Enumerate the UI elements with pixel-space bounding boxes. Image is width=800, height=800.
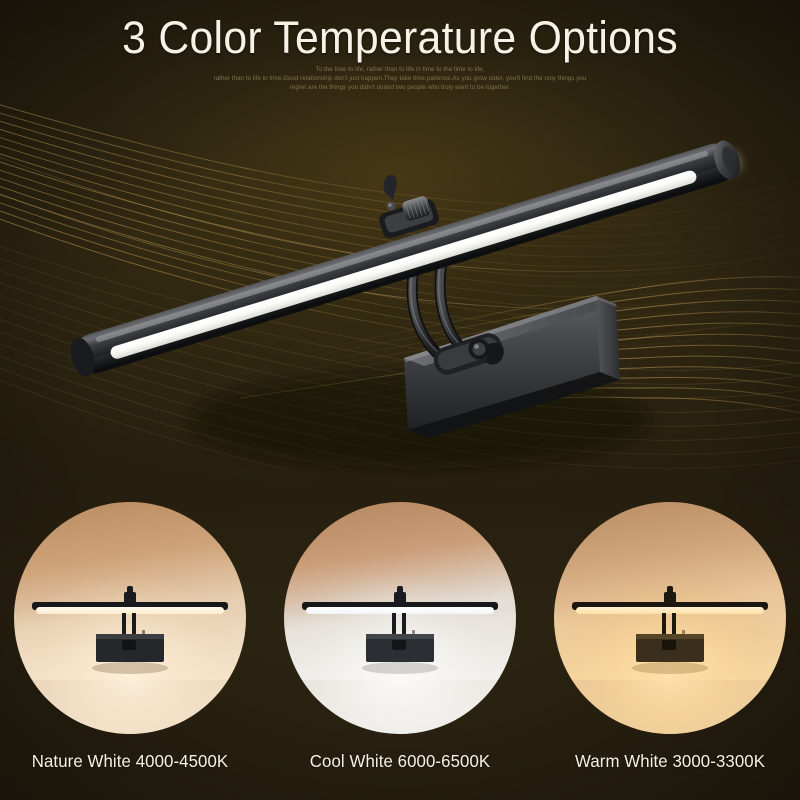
color-temperature-swatch-row: Nature White 4000-4500K	[0, 500, 800, 800]
swatch-nature-white[interactable]: Nature White 4000-4500K	[8, 500, 252, 800]
swatch-label-nature-white: Nature White 4000-4500K	[13, 751, 247, 772]
swatch-label-cool-white: Cool White 6000-6500K	[283, 751, 517, 772]
swatch-warm-white[interactable]: Warm White 3000-3300K	[548, 500, 792, 800]
subtitle-line-1: To the time to life, rather than to life…	[185, 66, 615, 75]
product-feature-image: 3 Color Temperature Options To the time …	[0, 0, 800, 800]
swatch-cool-white[interactable]: Cool White 6000-6500K	[278, 500, 522, 800]
subtitle-paragraph: To the time to life, rather than to life…	[185, 66, 615, 92]
swatch-circle-nature-white	[14, 502, 246, 734]
page-title: 3 Color Temperature Options	[20, 14, 780, 63]
swatch-label-warm-white: Warm White 3000-3300K	[553, 751, 787, 772]
subtitle-line-3: regret are the things you didn't doand t…	[185, 84, 615, 93]
subtitle-line-2: rather than to life in time.Good relatio…	[185, 75, 615, 84]
swatch-circle-warm-white	[554, 502, 786, 734]
swatch-circle-cool-white	[284, 502, 516, 734]
